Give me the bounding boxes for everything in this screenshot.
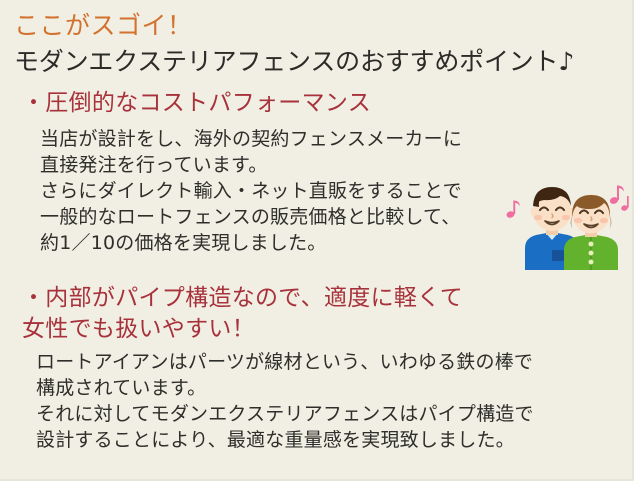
section-heading-pipe-structure: ・内部がパイプ構造なので、適度に軽くて 女性でも扱いやすい！ xyxy=(22,283,463,345)
promo-graphic-root: ここがスゴイ！ モダンエクステリアフェンスのおすすめポイント♪ ・圧倒的なコスト… xyxy=(0,0,640,496)
music-note-right-icon xyxy=(609,186,629,212)
woman-figure xyxy=(564,195,618,271)
content-panel: ここがスゴイ！ モダンエクステリアフェンスのおすすめポイント♪ ・圧倒的なコスト… xyxy=(0,0,634,481)
title-main-line: モダンエクステリアフェンスのおすすめポイント♪ xyxy=(14,44,626,80)
section-body-cost-performance: 当店が設計をし、海外の契約フェンスメーカーに 直接発注を行っています。 さらにダ… xyxy=(40,126,462,256)
section-heading-cost-performance: ・圧倒的なコストパフォーマンス xyxy=(22,88,371,119)
music-note-left-icon xyxy=(506,201,520,219)
title-accent-line: ここがスゴイ！ xyxy=(14,8,626,44)
section-body-pipe-structure: ロートアイアンはパーツが線材という、いわゆる鉄の棒で 構成されています。 それに… xyxy=(36,349,534,453)
title-block: ここがスゴイ！ モダンエクステリアフェンスのおすすめポイント♪ xyxy=(14,8,626,80)
smiling-couple-illustration xyxy=(502,178,638,270)
